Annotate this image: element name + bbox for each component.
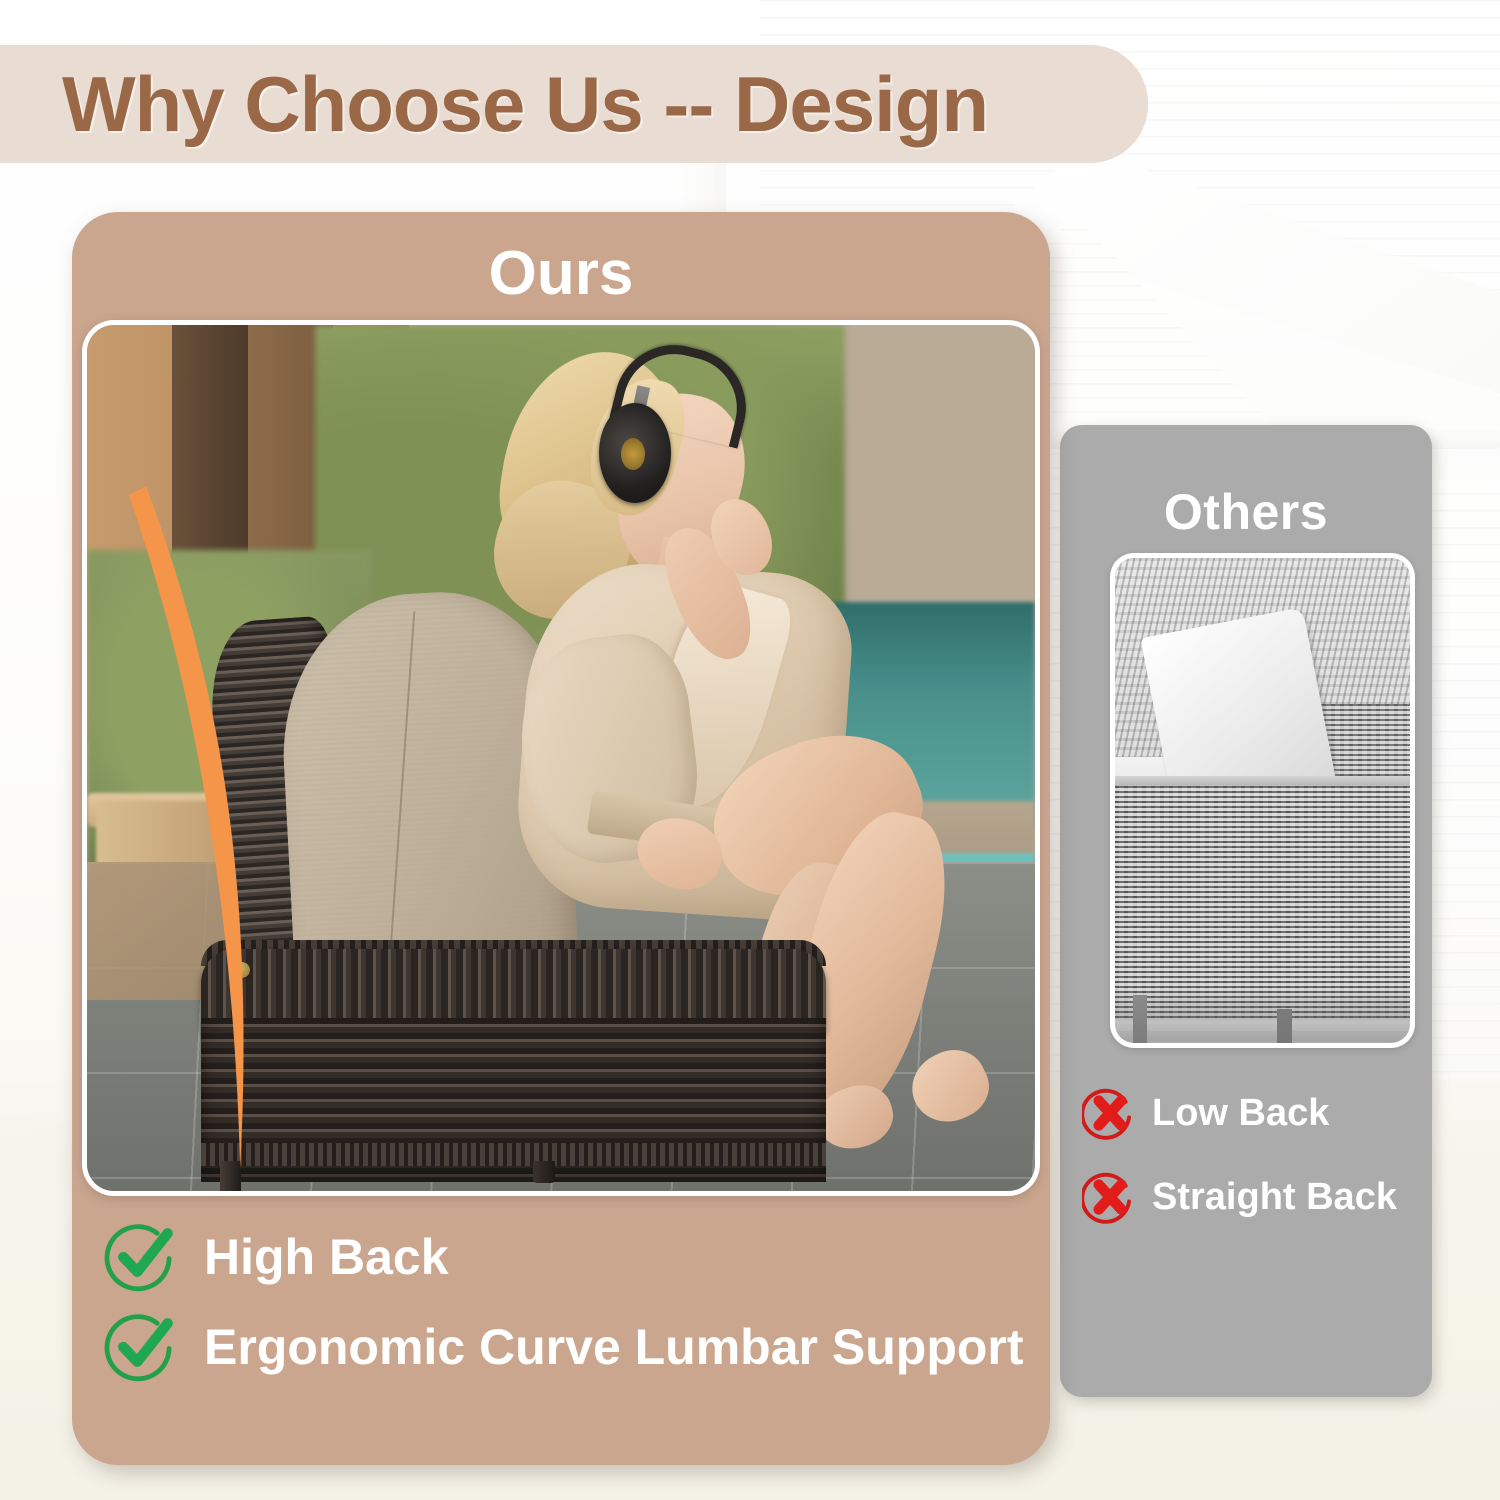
ours-feature-list: High Back Ergonomic Curve Lumbar Support [104, 1220, 1034, 1400]
list-item-label: Low Back [1152, 1092, 1329, 1135]
ours-panel: Ours [72, 212, 1050, 1465]
ours-title: Ours [72, 238, 1050, 309]
list-item-label: High Back [204, 1228, 449, 1286]
page-title: Why Choose Us -- Design [62, 65, 988, 143]
list-item-label: Straight Back [1152, 1176, 1397, 1219]
others-photo-shadow [1115, 985, 1410, 1043]
others-photo-frame [1110, 553, 1415, 1048]
check-circle-icon [104, 1220, 178, 1294]
list-item: Ergonomic Curve Lumbar Support [104, 1310, 1034, 1384]
x-circle-icon [1082, 1169, 1138, 1225]
list-item-label: Ergonomic Curve Lumbar Support [204, 1318, 1024, 1376]
check-circle-icon [104, 1310, 178, 1384]
list-item: Straight Back [1082, 1169, 1432, 1225]
ours-product-photo [87, 325, 1035, 1191]
x-circle-icon [1082, 1085, 1138, 1141]
list-item: High Back [104, 1220, 1034, 1294]
lumbar-curve-indicator-icon [115, 481, 324, 1174]
others-title: Others [1060, 483, 1432, 541]
others-feature-list: Low Back Straight Back [1082, 1085, 1432, 1253]
ours-photo-frame [82, 320, 1040, 1196]
list-item: Low Back [1082, 1085, 1432, 1141]
page-title-banner: Why Choose Us -- Design [0, 45, 1148, 163]
others-sofa-wicker-body [1115, 786, 1410, 1019]
chair-leg [533, 1161, 556, 1184]
others-panel: Others Low Back [1060, 425, 1432, 1397]
others-product-photo [1115, 558, 1410, 1043]
